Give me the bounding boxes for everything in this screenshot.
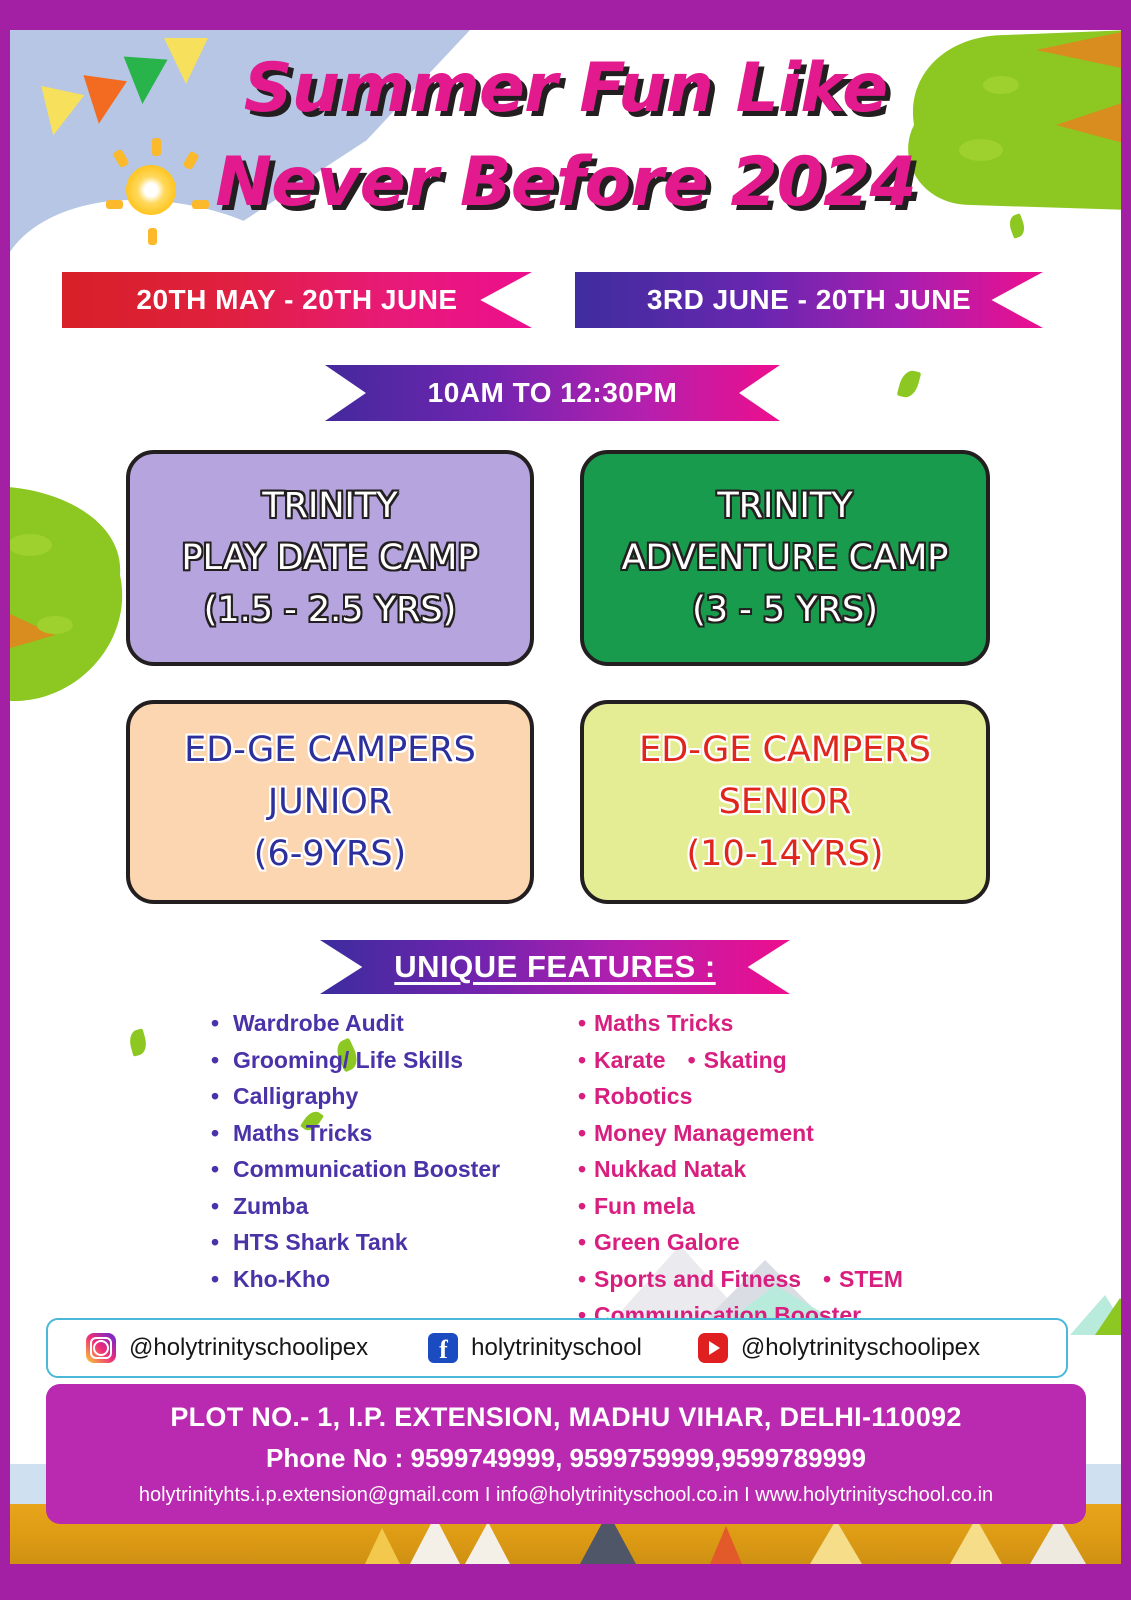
camp-name-line2: SENIOR: [719, 776, 852, 828]
instagram-icon: [86, 1333, 116, 1363]
youtube-handle: @holytrinityschoolipex: [741, 1334, 980, 1362]
youtube-link[interactable]: @holytrinityschoolipex: [698, 1333, 980, 1363]
list-item-text-secondary: STEM: [823, 1266, 903, 1292]
features-list-left: Wardrobe Audit Grooming/ Life Skills Cal…: [205, 1005, 555, 1297]
footer-phone: Phone No : 9599749999, 9599759999,959978…: [266, 1438, 866, 1478]
list-item: Grooming/ Life Skills: [205, 1042, 555, 1079]
camp-name-line1: ED-GE CAMPERS: [184, 724, 476, 776]
facebook-glyph: f: [439, 1336, 448, 1364]
camp-name-line2: JUNIOR: [268, 776, 392, 828]
list-item: Robotics: [578, 1078, 978, 1115]
camp-age-range: (10-14YRS): [687, 828, 884, 880]
poster-canvas: Summer Fun Like Never Before 2024 20TH M…: [0, 0, 1131, 1600]
poster-border-left: [0, 0, 10, 1600]
list-item-text: Sports and Fitness: [594, 1266, 801, 1292]
instagram-handle: @holytrinityschoolipex: [129, 1334, 368, 1362]
camp-name-line1: TRINITY: [262, 480, 397, 532]
unique-features-ribbon: UNIQUE FEATURES :: [320, 940, 790, 994]
list-item: Nukkad Natak: [578, 1151, 978, 1188]
poster-border-right: [1121, 0, 1131, 1600]
date-ribbon-left-label: 20TH MAY - 20TH JUNE: [136, 284, 457, 316]
list-item: Money Management: [578, 1115, 978, 1152]
camp-age-range: (1.5 - 2.5 YRS): [204, 584, 457, 636]
unique-features-label: UNIQUE FEATURES :: [394, 949, 715, 985]
camp-name-line2: PLAY DATE CAMP: [181, 532, 478, 584]
footer-contact-block: PLOT NO.- 1, I.P. EXTENSION, MADHU VIHAR…: [46, 1384, 1086, 1524]
date-ribbon-right: 3RD JUNE - 20TH JUNE: [575, 272, 1043, 328]
footer-address: PLOT NO.- 1, I.P. EXTENSION, MADHU VIHAR…: [170, 1396, 961, 1438]
title-line-2: Never Before 2024: [0, 136, 1131, 230]
list-item: Zumba: [205, 1188, 555, 1225]
instagram-link[interactable]: @holytrinityschoolipex: [86, 1333, 368, 1363]
leaf-decoration: [897, 368, 922, 400]
list-item: Maths Tricks: [205, 1115, 555, 1152]
camp-age-range: (3 - 5 YRS): [692, 584, 878, 636]
list-item: Sports and FitnessSTEM: [578, 1261, 978, 1298]
time-ribbon: 10AM TO 12:30PM: [325, 365, 780, 421]
date-ribbon-left: 20TH MAY - 20TH JUNE: [62, 272, 532, 328]
camp-name-line2: ADVENTURE CAMP: [622, 532, 949, 584]
camp-card-adventure[interactable]: TRINITY ADVENTURE CAMP (3 - 5 YRS): [580, 450, 990, 666]
camp-card-edge-junior[interactable]: ED-GE CAMPERS JUNIOR (6-9YRS): [126, 700, 534, 904]
poster-border-top: [0, 0, 1131, 30]
poster-title: Summer Fun Like Never Before 2024: [0, 42, 1131, 230]
footer-emails: holytrinityhts.i.p.extension@gmail.com I…: [139, 1478, 993, 1512]
list-item: KarateSkating: [578, 1042, 978, 1079]
features-list-right: Maths Tricks KarateSkating Robotics Mone…: [578, 1005, 978, 1334]
camp-age-range: (6-9YRS): [254, 828, 406, 880]
camp-name-line1: TRINITY: [717, 480, 852, 532]
facebook-icon: f: [428, 1333, 458, 1363]
leaf-decoration: [127, 1028, 149, 1056]
list-item: Kho-Kho: [205, 1261, 555, 1298]
date-ribbon-right-label: 3RD JUNE - 20TH JUNE: [647, 284, 971, 316]
facebook-link[interactable]: f holytrinityschool: [428, 1333, 642, 1363]
list-item: HTS Shark Tank: [205, 1224, 555, 1261]
social-media-bar: @holytrinityschoolipex f holytrinityscho…: [46, 1318, 1068, 1378]
list-item-text: Karate: [594, 1047, 666, 1073]
list-item: Green Galore: [578, 1224, 978, 1261]
facebook-handle: holytrinityschool: [471, 1334, 642, 1362]
list-item-text-secondary: Skating: [688, 1047, 787, 1073]
camp-card-play-date[interactable]: TRINITY PLAY DATE CAMP (1.5 - 2.5 YRS): [126, 450, 534, 666]
title-line-1: Summer Fun Like: [0, 42, 1131, 136]
list-item: Maths Tricks: [578, 1005, 978, 1042]
list-item: Calligraphy: [205, 1078, 555, 1115]
youtube-icon: [698, 1333, 728, 1363]
camp-card-edge-senior[interactable]: ED-GE CAMPERS SENIOR (10-14YRS): [580, 700, 990, 904]
camp-name-line1: ED-GE CAMPERS: [639, 724, 931, 776]
list-item: Communication Booster: [205, 1151, 555, 1188]
list-item: Fun mela: [578, 1188, 978, 1225]
sun-ray: [148, 228, 157, 245]
time-ribbon-label: 10AM TO 12:30PM: [428, 377, 678, 409]
list-item: Wardrobe Audit: [205, 1005, 555, 1042]
poster-border-bottom: [0, 1564, 1131, 1600]
